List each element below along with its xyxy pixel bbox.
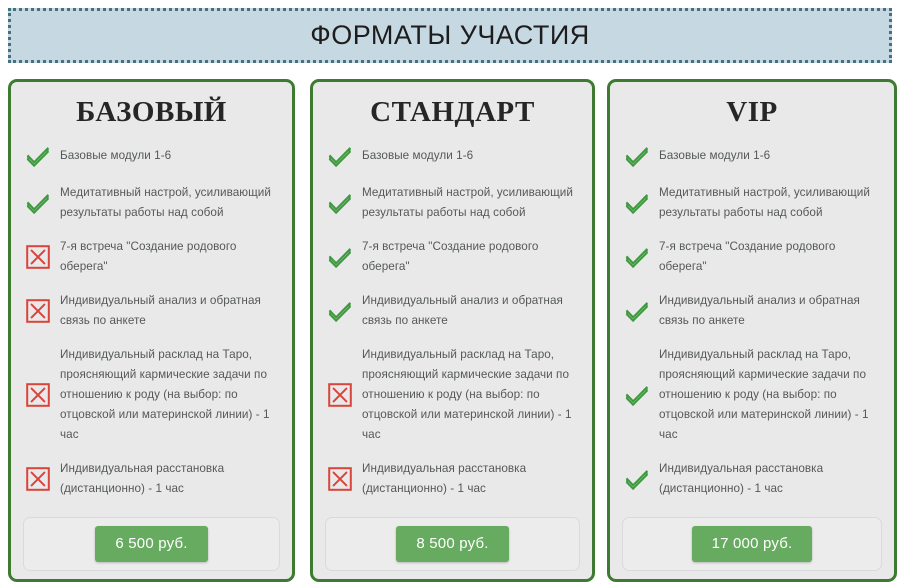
cross-icon	[327, 382, 353, 408]
feature-item: 7-я встреча "Создание родового оберега"	[23, 237, 280, 277]
check-icon	[624, 143, 650, 169]
feature-item: Индивидуальный анализ и обратная связь п…	[23, 291, 280, 331]
feature-item: Индивидуальная расстановка (дистанционно…	[622, 459, 882, 499]
card-title: VIP	[622, 97, 882, 127]
feature-label: Индивидуальный расклад на Таро, проясняю…	[362, 345, 580, 445]
page-header-banner: ФОРМАТЫ УЧАСТИЯ	[8, 8, 892, 63]
feature-label: Базовые модули 1-6	[659, 146, 770, 166]
feature-item: Базовые модули 1-6	[622, 143, 882, 169]
check-icon	[624, 466, 650, 492]
price-button[interactable]: 8 500 руб.	[396, 526, 508, 562]
cross-icon	[25, 298, 51, 324]
price-box: 17 000 руб.	[622, 517, 882, 571]
feature-item: Индивидуальная расстановка (дистанционно…	[325, 459, 580, 499]
check-icon	[624, 244, 650, 270]
feature-item: Медитативный настрой, усиливающий резуль…	[622, 183, 882, 223]
check-icon	[327, 190, 353, 216]
cross-icon	[25, 466, 51, 492]
cross-icon	[327, 466, 353, 492]
check-icon	[25, 190, 51, 216]
feature-item: Индивидуальный анализ и обратная связь п…	[325, 291, 580, 331]
card-title: СТАНДАРТ	[325, 97, 580, 127]
pricing-card-basic: БАЗОВЫЙ Базовые модули 1-6Медитативный н…	[8, 79, 295, 582]
feature-item: Индивидуальный анализ и обратная связь п…	[622, 291, 882, 331]
feature-label: Индивидуальный анализ и обратная связь п…	[659, 291, 882, 331]
check-icon	[327, 143, 353, 169]
feature-item: Базовые модули 1-6	[325, 143, 580, 169]
feature-label: Индивидуальный расклад на Таро, проясняю…	[659, 345, 882, 445]
feature-item: Медитативный настрой, усиливающий резуль…	[325, 183, 580, 223]
cross-icon	[25, 244, 51, 270]
feature-label: Индивидуальный расклад на Таро, проясняю…	[60, 345, 280, 445]
feature-list: Базовые модули 1-6Медитативный настрой, …	[325, 143, 580, 517]
check-icon	[327, 244, 353, 270]
feature-label: Индивидуальная расстановка (дистанционно…	[60, 459, 280, 499]
feature-label: Индивидуальный анализ и обратная связь п…	[60, 291, 280, 331]
page-title: ФОРМАТЫ УЧАСТИЯ	[310, 20, 590, 51]
feature-item: 7-я встреча "Создание родового оберега"	[622, 237, 882, 277]
feature-label: Индивидуальный анализ и обратная связь п…	[362, 291, 580, 331]
feature-item: 7-я встреча "Создание родового оберега"	[325, 237, 580, 277]
feature-label: 7-я встреча "Создание родового оберега"	[659, 237, 882, 277]
check-icon	[25, 143, 51, 169]
feature-item: Индивидуальный расклад на Таро, проясняю…	[325, 345, 580, 445]
feature-item: Базовые модули 1-6	[23, 143, 280, 169]
feature-item: Индивидуальная расстановка (дистанционно…	[23, 459, 280, 499]
check-icon	[624, 382, 650, 408]
feature-item: Медитативный настрой, усиливающий резуль…	[23, 183, 280, 223]
pricing-card-standard: СТАНДАРТ Базовые модули 1-6Медитативный …	[310, 79, 595, 582]
feature-item: Индивидуальный расклад на Таро, проясняю…	[622, 345, 882, 445]
price-button[interactable]: 17 000 руб.	[692, 526, 813, 562]
check-icon	[624, 298, 650, 324]
feature-label: Базовые модули 1-6	[60, 146, 171, 166]
feature-item: Индивидуальный расклад на Таро, проясняю…	[23, 345, 280, 445]
check-icon	[624, 190, 650, 216]
feature-label: Базовые модули 1-6	[362, 146, 473, 166]
card-title: БАЗОВЫЙ	[23, 97, 280, 127]
price-box: 8 500 руб.	[325, 517, 580, 571]
feature-label: Индивидуальная расстановка (дистанционно…	[659, 459, 882, 499]
feature-label: Медитативный настрой, усиливающий резуль…	[659, 183, 882, 223]
price-button[interactable]: 6 500 руб.	[95, 526, 207, 562]
feature-list: Базовые модули 1-6Медитативный настрой, …	[622, 143, 882, 517]
feature-label: Медитативный настрой, усиливающий резуль…	[60, 183, 280, 223]
feature-list: Базовые модули 1-6Медитативный настрой, …	[23, 143, 280, 517]
feature-label: Медитативный настрой, усиливающий резуль…	[362, 183, 580, 223]
check-icon	[327, 298, 353, 324]
feature-label: Индивидуальная расстановка (дистанционно…	[362, 459, 580, 499]
feature-label: 7-я встреча "Создание родового оберега"	[60, 237, 280, 277]
price-box: 6 500 руб.	[23, 517, 280, 571]
feature-label: 7-я встреча "Создание родового оберега"	[362, 237, 580, 277]
cross-icon	[25, 382, 51, 408]
pricing-cards-row: БАЗОВЫЙ Базовые модули 1-6Медитативный н…	[0, 79, 900, 582]
pricing-card-vip: VIP Базовые модули 1-6Медитативный настр…	[607, 79, 897, 582]
